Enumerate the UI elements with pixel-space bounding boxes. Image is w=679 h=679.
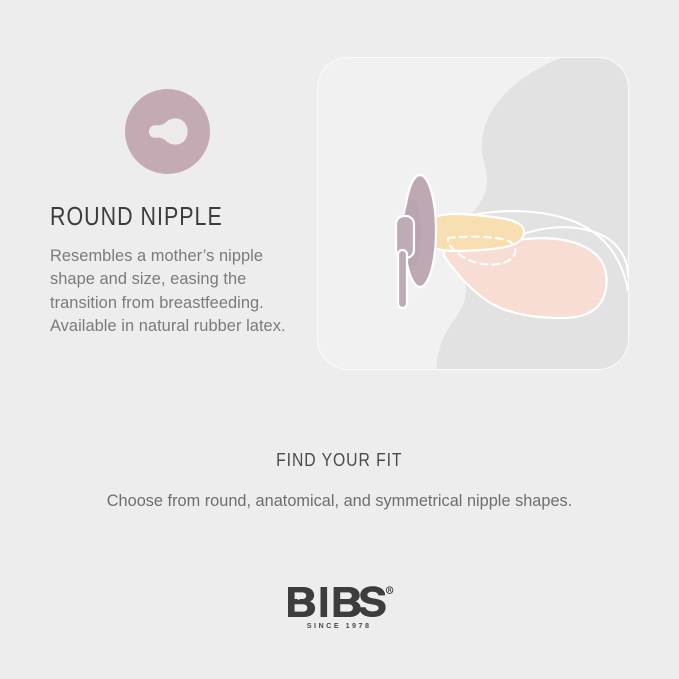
find-your-fit-heading-text: FIND YOUR FIT (276, 449, 402, 471)
product-feature-infographic: ROUND NIPPLE Resembles a mother’s nipple… (0, 0, 679, 679)
brand-logo: SINCE 1978 (0, 586, 679, 630)
brand-tagline: SINCE 1978 (307, 621, 372, 630)
page-title: ROUND NIPPLE (50, 203, 285, 232)
round-nipple-shape-icon (125, 89, 210, 174)
bibs-wordmark (286, 586, 394, 618)
find-your-fit-subtext: Choose from round, anatomical, and symme… (0, 492, 679, 511)
find-your-fit-heading: FIND YOUR FIT (0, 449, 679, 471)
feature-description: Resembles a mother’s nipple shape and si… (50, 245, 296, 339)
illustration-panel (318, 58, 628, 369)
